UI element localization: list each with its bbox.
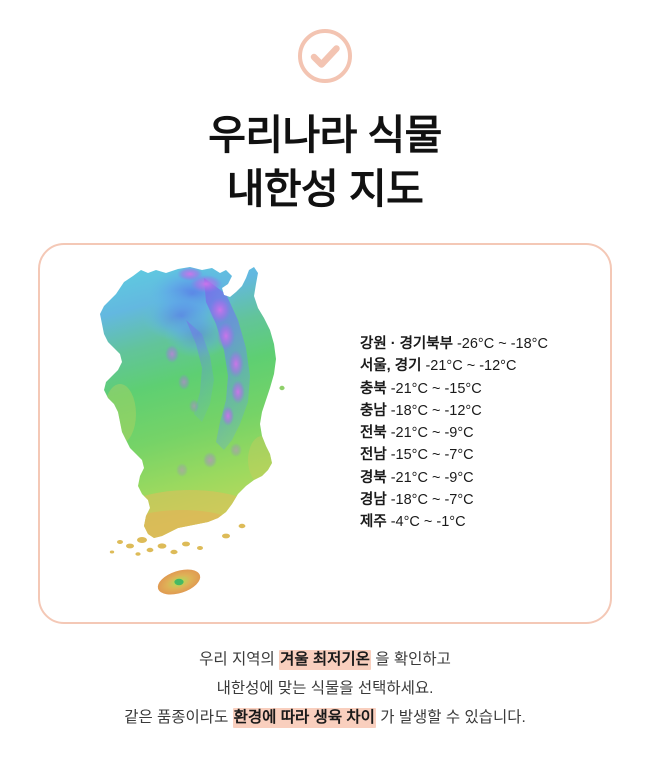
region-range: -21°C ~ -12°C <box>425 358 516 374</box>
region-range: -18°C ~ -12°C <box>391 403 482 419</box>
region-range: -26°C ~ -18°C <box>457 336 548 352</box>
page-title: 우리나라 식물 내한성 지도 <box>0 108 650 216</box>
map-island-jeju <box>155 565 204 600</box>
footer-line-1: 우리 지역의 겨울 최저기온 을 확인하고 <box>0 645 650 674</box>
region-row: 전남 -15°C ~ -7°C <box>360 444 600 466</box>
region-range: -21°C ~ -9°C <box>391 425 474 441</box>
footer-line-1-pre: 우리 지역의 <box>199 651 279 668</box>
region-name: 전남 <box>360 447 387 463</box>
check-circle-badge <box>298 29 352 83</box>
footer-line-3-pre: 같은 품종이라도 <box>124 709 232 726</box>
region-range: -15°C ~ -7°C <box>391 447 474 463</box>
map-southwest-islands <box>110 524 246 556</box>
region-row: 전북 -21°C ~ -9°C <box>360 422 600 444</box>
region-name: 경북 <box>360 470 387 486</box>
region-row: 경남 -18°C ~ -7°C <box>360 489 600 511</box>
region-name: 충남 <box>360 403 387 419</box>
footer-line-1-post: 을 확인하고 <box>375 651 451 668</box>
region-range: -18°C ~ -7°C <box>391 492 474 508</box>
region-name: 충북 <box>360 381 387 397</box>
map-island-ulleungdo <box>279 386 284 390</box>
title-line-1: 우리나라 식물 <box>0 108 650 162</box>
check-icon <box>298 29 352 83</box>
region-range: -21°C ~ -15°C <box>391 381 482 397</box>
region-row: 제주 -4°C ~ -1°C <box>360 511 600 533</box>
footer-line-2: 내한성에 맞는 식물을 선택하세요. <box>0 674 650 703</box>
region-row: 서울, 경기 -21°C ~ -12°C <box>360 355 600 377</box>
hardiness-map-card: 강원 · 경기북부 -26°C ~ -18°C 서울, 경기 -21°C ~ -… <box>38 243 612 624</box>
footer-line-3: 같은 품종이라도 환경에 따라 생육 차이 가 발생할 수 있습니다. <box>0 703 650 732</box>
region-range: -21°C ~ -9°C <box>391 470 474 486</box>
region-row: 경북 -21°C ~ -9°C <box>360 467 600 489</box>
footer-highlight-winter-min-temp: 겨울 최저기온 <box>279 650 371 670</box>
footer-highlight-growth-variation: 환경에 따라 생육 차이 <box>233 708 376 728</box>
title-line-2: 내한성 지도 <box>0 162 650 216</box>
map-landmass <box>86 264 296 604</box>
korea-map-svg <box>86 264 296 604</box>
region-range: -4°C ~ -1°C <box>391 514 466 530</box>
region-name: 전북 <box>360 425 387 441</box>
region-row: 충남 -18°C ~ -12°C <box>360 400 600 422</box>
footer-note: 우리 지역의 겨울 최저기온 을 확인하고 내한성에 맞는 식물을 선택하세요.… <box>0 645 650 732</box>
region-name: 강원 · 경기북부 <box>360 336 453 352</box>
region-name: 서울, 경기 <box>360 358 421 374</box>
region-name: 제주 <box>360 514 387 530</box>
korea-hardiness-map <box>86 264 296 604</box>
region-row: 강원 · 경기북부 -26°C ~ -18°C <box>360 333 600 355</box>
region-name: 경남 <box>360 492 387 508</box>
region-row: 충북 -21°C ~ -15°C <box>360 378 600 400</box>
region-temperature-list: 강원 · 경기북부 -26°C ~ -18°C 서울, 경기 -21°C ~ -… <box>360 333 600 534</box>
footer-line-3-post: 가 발생할 수 있습니다. <box>380 709 526 726</box>
